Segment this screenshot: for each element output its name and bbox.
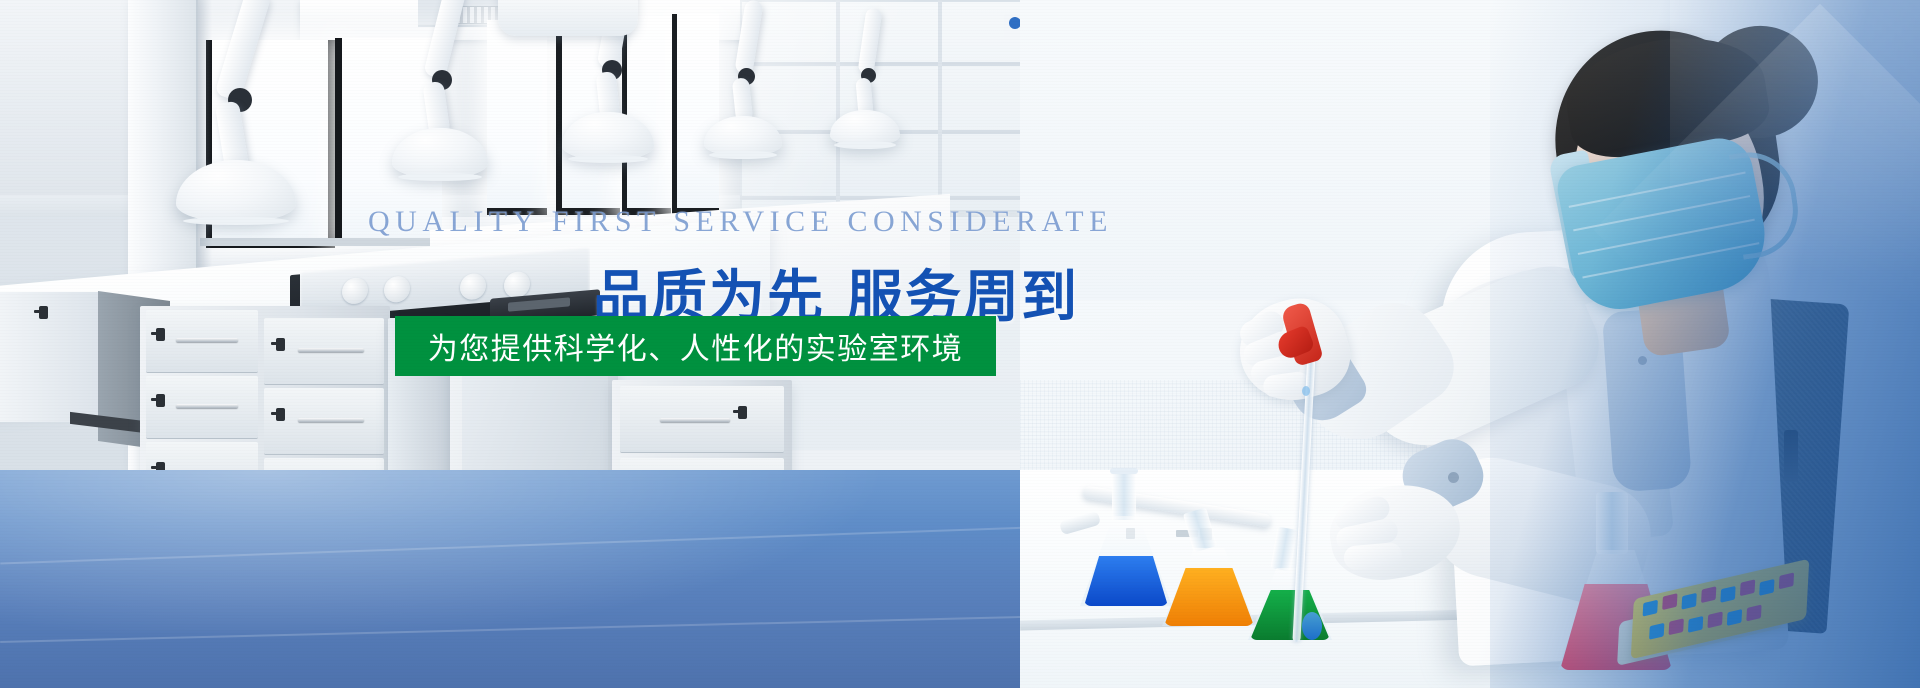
subtitle-text: 为您提供科学化、人性化的实验室环境 (428, 324, 964, 368)
mobile-cabinet-left (0, 292, 100, 422)
subtitle-banner: 为您提供科学化、人性化的实验室环境 (395, 316, 996, 376)
lab-hero-banner: QUALITY FIRST SERVICE CONSIDERATE 品质为先服务… (0, 0, 1920, 688)
window-center-pane-4 (672, 14, 719, 215)
tagline-english: QUALITY FIRST SERVICE CONSIDERATE (368, 205, 1028, 239)
shelf-glass-reflection (740, 0, 1040, 212)
pipette-tip-blue-liquid (1302, 612, 1322, 640)
erlenmeyer-flask-orange (1158, 510, 1258, 628)
pipette-liquid-drop (1302, 386, 1310, 396)
ceiling-extraction-hub (498, 0, 638, 36)
floor-reflection (0, 470, 1060, 688)
window-sill (200, 238, 440, 246)
cuff-button-icon (1448, 472, 1459, 483)
window-center-pane-1 (487, 20, 547, 215)
flask-liquid-orange (1164, 568, 1254, 626)
